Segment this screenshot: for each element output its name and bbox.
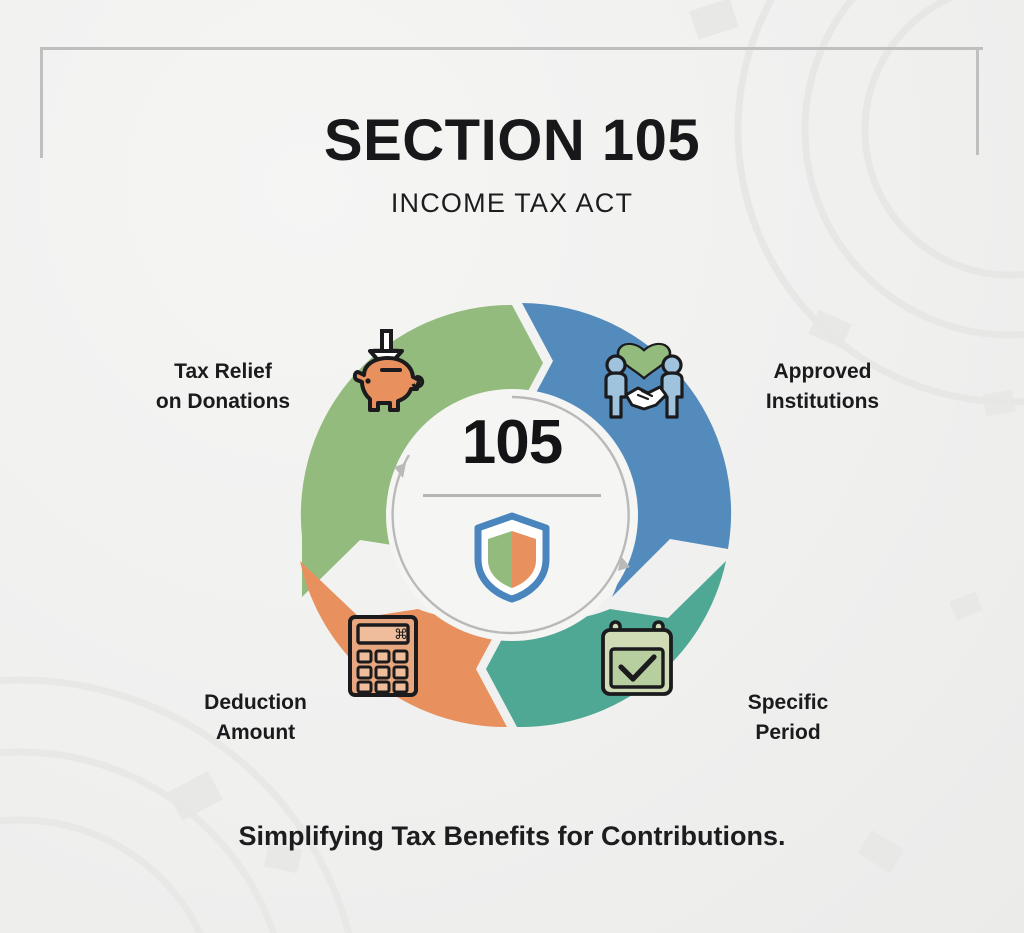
header-block: SECTION 105 INCOME TAX ACT: [0, 112, 1024, 219]
tagline: Simplifying Tax Benefits for Contributio…: [0, 816, 1024, 858]
paper-fleck: [982, 390, 1015, 417]
piggy-bank-icon: [340, 325, 432, 422]
handshake-heart-icon: [596, 335, 692, 428]
segment-label-deduction-amount: Deduction Amount: [178, 688, 333, 749]
paper-fleck: [167, 771, 223, 821]
page-subtitle: INCOME TAX ACT: [0, 188, 1024, 219]
calculator-icon: ⌘: [344, 612, 422, 705]
svg-text:⌘: ⌘: [394, 628, 408, 643]
calendar-check-icon: [597, 617, 677, 706]
segment-label-specific-period: Specific Period: [718, 688, 858, 749]
paper-fleck: [949, 591, 982, 620]
shield-icon: [396, 511, 628, 608]
segment-label-tax-relief: Tax Relief on Donations: [143, 357, 303, 418]
center-content: 105: [396, 412, 628, 608]
infographic-canvas: SECTION 105 INCOME TAX ACT: [0, 0, 1024, 933]
paper-fleck: [689, 0, 738, 40]
center-divider: [423, 494, 601, 497]
segment-label-approved-institutions: Approved Institutions: [735, 357, 910, 418]
paper-fleck: [808, 310, 851, 348]
page-title: SECTION 105: [0, 112, 1024, 170]
